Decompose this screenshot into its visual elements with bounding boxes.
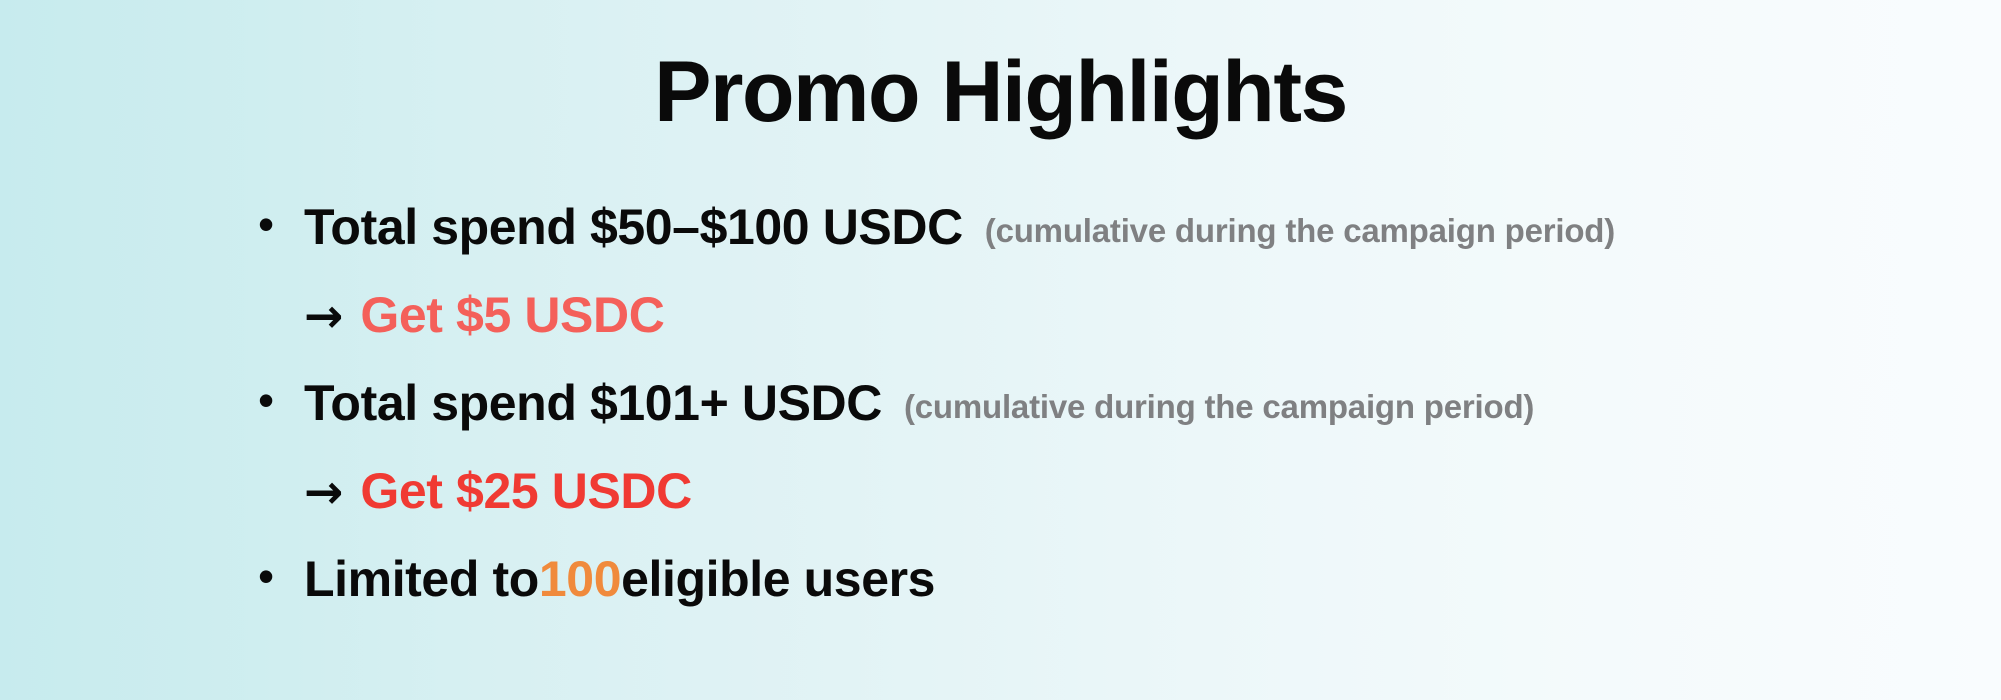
- tier-1-reward-amount: Get $5 USDC: [360, 286, 664, 344]
- arrow-right-icon: →: [304, 469, 343, 516]
- tier-2-condition: Total spend $101+ USDC: [304, 374, 882, 432]
- list-item-tier-2: Total spend $101+ USDC (cumulative durin…: [258, 374, 1978, 462]
- tier-2-note: (cumulative during the campaign period): [904, 388, 1534, 426]
- promo-highlights-slide: Promo Highlights Total spend $50–$100 US…: [0, 0, 2001, 700]
- page-title: Promo Highlights: [0, 44, 2001, 140]
- limit-user-count: 100: [539, 550, 621, 608]
- bullet-dot-icon: [258, 377, 304, 423]
- bullet-dot-icon: [258, 553, 304, 599]
- tier-1-note: (cumulative during the campaign period): [985, 212, 1615, 250]
- bullet-dot-icon: [258, 201, 304, 247]
- limit-text-before: Limited to: [304, 550, 539, 608]
- limit-text-after: eligible users: [621, 550, 935, 608]
- list-item-tier-2-reward: → Get $25 USDC: [258, 462, 1978, 550]
- arrow-right-icon: →: [304, 293, 343, 340]
- list-item-tier-1: Total spend $50–$100 USDC (cumulative du…: [258, 198, 1978, 286]
- highlights-list: Total spend $50–$100 USDC (cumulative du…: [258, 198, 1978, 638]
- list-item-tier-1-reward: → Get $5 USDC: [258, 286, 1978, 374]
- list-item-limit: Limited to 100 eligible users: [258, 550, 1978, 638]
- tier-1-condition: Total spend $50–$100 USDC: [304, 198, 963, 256]
- tier-2-reward-amount: Get $25 USDC: [360, 462, 691, 520]
